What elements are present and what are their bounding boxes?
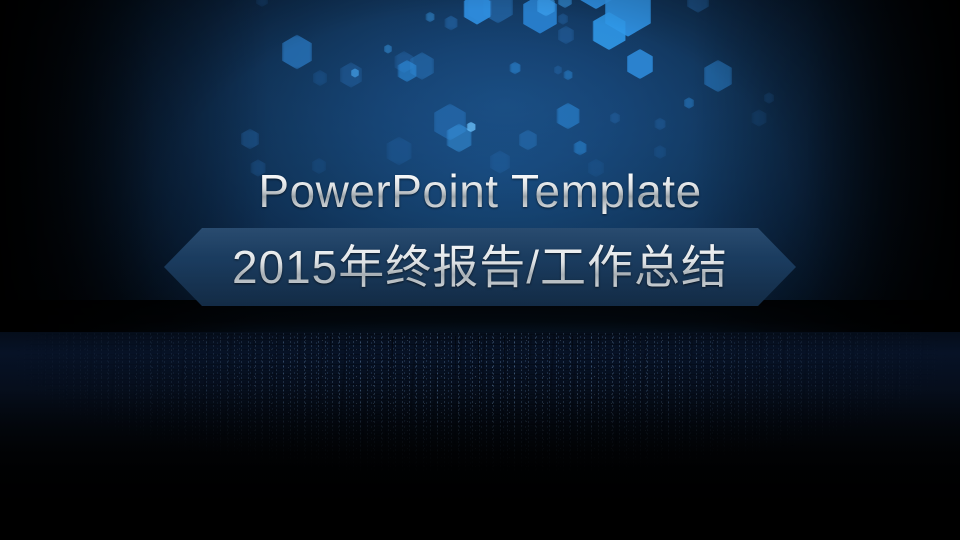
ground-bottom-fade [0, 390, 960, 540]
title-english: PowerPoint Template [0, 168, 960, 214]
ground-seam [392, 336, 393, 376]
ground-seam [504, 336, 505, 398]
title-block: PowerPoint Template [0, 168, 960, 214]
ground-seam [640, 336, 641, 366]
ground-seam [330, 336, 331, 364]
title-chinese: 2015年终报告/工作总结 [164, 228, 796, 306]
ground-seam [572, 336, 573, 380]
presentation-slide: PowerPoint Template 2015年终报告/工作总结 [0, 0, 960, 540]
ground-seam [455, 336, 456, 394]
